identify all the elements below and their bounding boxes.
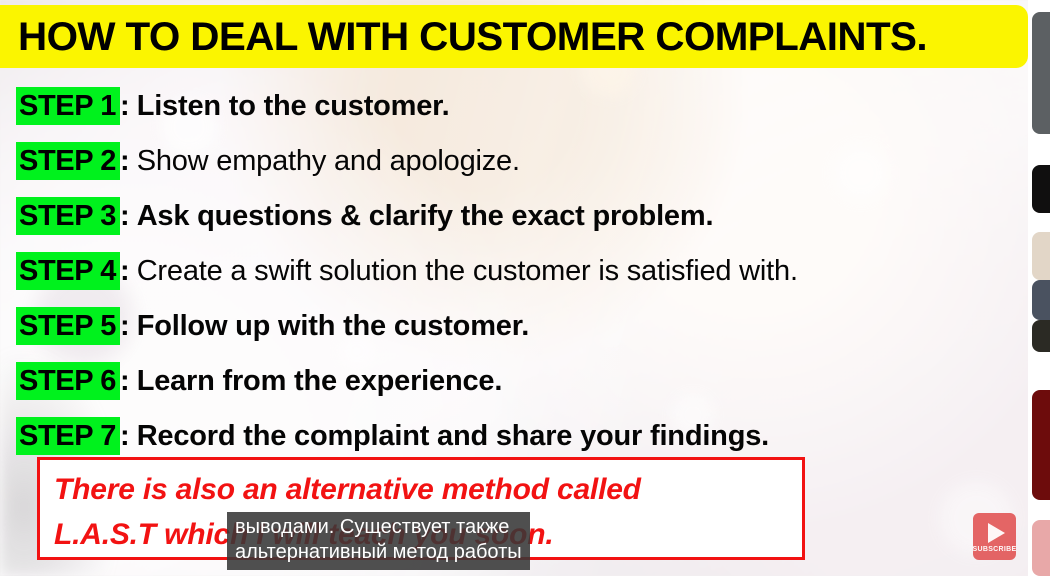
step-separator: : [120, 254, 137, 288]
step-row: STEP 5:Follow up with the customer. [16, 298, 1016, 353]
step-badge: STEP 7 [16, 417, 120, 455]
subtitle-line-2: альтернативный метод работы [235, 540, 522, 565]
subscribe-watermark-button[interactable]: SUBSCRIBE [973, 513, 1016, 560]
subtitle-overlay: выводами. Существует также альтернативны… [227, 512, 530, 570]
step-description: Follow up with the customer. [137, 309, 529, 343]
step-row: STEP 4:Create a swift solution the custo… [16, 243, 1016, 298]
step-badge: STEP 1 [16, 87, 120, 125]
step-description: Ask questions & clarify the exact proble… [137, 199, 714, 233]
sidebar-thumbnail-3[interactable] [1032, 232, 1050, 280]
step-description: Learn from the experience. [137, 364, 503, 398]
step-separator: : [120, 364, 137, 398]
steps-list: STEP 1:Listen to the customer.STEP 2:Sho… [16, 78, 1016, 463]
alt-method-line-1: There is also an alternative method call… [54, 467, 802, 512]
step-description: Record the complaint and share your find… [137, 419, 769, 453]
related-videos-sidebar[interactable] [1028, 0, 1050, 576]
step-row: STEP 1:Listen to the customer. [16, 78, 1016, 133]
sidebar-thumbnail-7[interactable] [1032, 520, 1050, 576]
step-badge: STEP 4 [16, 252, 120, 290]
sidebar-thumbnail-4[interactable] [1032, 280, 1050, 320]
sidebar-thumbnail-5[interactable] [1032, 320, 1050, 352]
step-separator: : [120, 199, 137, 233]
step-separator: : [120, 144, 137, 178]
sidebar-thumbnail-2[interactable] [1032, 165, 1050, 213]
step-separator: : [120, 309, 137, 343]
step-description: Listen to the customer. [137, 89, 450, 123]
step-row: STEP 6:Learn from the experience. [16, 353, 1016, 408]
step-badge: STEP 3 [16, 197, 120, 235]
sidebar-thumbnail-1[interactable] [1032, 12, 1050, 134]
step-description: Show empathy and apologize. [137, 144, 520, 178]
video-frame: HOW TO DEAL WITH CUSTOMER COMPLAINTS. ST… [0, 0, 1050, 576]
step-badge: STEP 2 [16, 142, 120, 180]
sidebar-thumbnail-6[interactable] [1032, 390, 1050, 500]
subtitle-line-1: выводами. Существует также [235, 515, 509, 540]
step-row: STEP 2:Show empathy and apologize. [16, 133, 1016, 188]
step-row: STEP 3:Ask questions & clarify the exact… [16, 188, 1016, 243]
step-badge: STEP 5 [16, 307, 120, 345]
step-badge: STEP 6 [16, 362, 120, 400]
step-description: Create a swift solution the customer is … [137, 254, 798, 288]
step-separator: : [120, 89, 137, 123]
play-triangle-icon [988, 523, 1005, 543]
step-separator: : [120, 419, 137, 453]
title-banner: HOW TO DEAL WITH CUSTOMER COMPLAINTS. [0, 5, 1028, 68]
step-row: STEP 7:Record the complaint and share yo… [16, 408, 1016, 463]
page-title: HOW TO DEAL WITH CUSTOMER COMPLAINTS. [18, 17, 927, 57]
subscribe-label: SUBSCRIBE [973, 546, 1017, 553]
